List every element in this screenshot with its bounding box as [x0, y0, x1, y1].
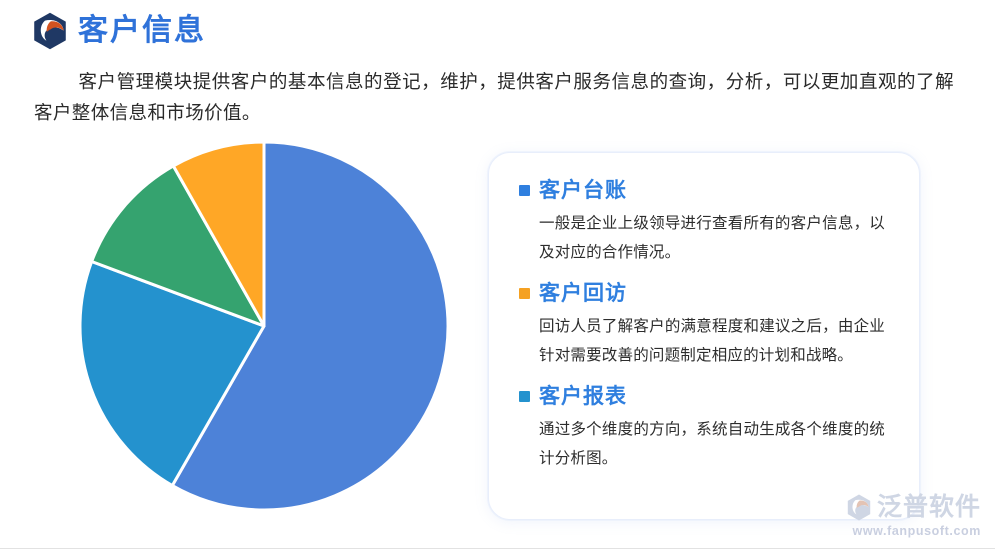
- watermark-row: 泛普软件: [846, 494, 981, 521]
- intro-text: 客户管理模块提供客户的基本信息的登记，维护，提供客户服务信息的查询，分析，可以更…: [34, 71, 954, 123]
- feature-item-title: 客户回访: [539, 282, 627, 305]
- pie-chart-svg: [78, 140, 450, 512]
- feature-card: 客户台账 一般是企业上级领导进行查看所有的客户信息，以及对应的合作情况。 客户回…: [488, 152, 920, 520]
- feature-item-header: 客户回访: [519, 282, 903, 305]
- square-bullet-icon: [519, 391, 530, 402]
- fanpu-hexagon-logo-icon: [32, 12, 68, 50]
- feature-item-body: 通过多个维度的方向，系统自动生成各个维度的统计分析图。: [519, 415, 903, 473]
- feature-item-header: 客户报表: [519, 385, 903, 408]
- feature-item-customer-report[interactable]: 客户报表 通过多个维度的方向，系统自动生成各个维度的统计分析图。: [519, 385, 903, 473]
- feature-item-header: 客户台账: [519, 179, 903, 202]
- intro-paragraph: 客户管理模块提供客户的基本信息的登记，维护，提供客户服务信息的查询，分析，可以更…: [34, 66, 954, 128]
- slide-root: 客户信息 客户管理模块提供客户的基本信息的登记，维护，提供客户服务信息的查询，分…: [0, 0, 995, 560]
- customer-pie-chart: [78, 140, 450, 512]
- bottom-divider: [0, 548, 995, 549]
- watermark-name: 泛普软件: [877, 495, 981, 520]
- feature-item-title: 客户台账: [539, 179, 627, 202]
- feature-item-customer-ledger[interactable]: 客户台账 一般是企业上级领导进行查看所有的客户信息，以及对应的合作情况。: [519, 179, 903, 267]
- feature-item-customer-revisit[interactable]: 客户回访 回访人员了解客户的满意程度和建议之后，由企业针对需要改善的问题制定相应…: [519, 282, 903, 370]
- feature-item-body: 回访人员了解客户的满意程度和建议之后，由企业针对需要改善的问题制定相应的计划和战…: [519, 312, 903, 370]
- watermark-url: www.fanpusoft.com: [846, 524, 981, 538]
- feature-item-body: 一般是企业上级领导进行查看所有的客户信息，以及对应的合作情况。: [519, 209, 903, 267]
- feature-item-title: 客户报表: [539, 385, 627, 408]
- watermark: 泛普软件 www.fanpusoft.com: [846, 494, 981, 538]
- feature-list: 客户台账 一般是企业上级领导进行查看所有的客户信息，以及对应的合作情况。 客户回…: [519, 179, 903, 473]
- square-bullet-icon: [519, 288, 530, 299]
- fanpu-hexagon-logo-icon: [846, 494, 872, 521]
- square-bullet-icon: [519, 185, 530, 196]
- page-header: 客户信息: [32, 12, 206, 50]
- page-title: 客户信息: [78, 16, 206, 46]
